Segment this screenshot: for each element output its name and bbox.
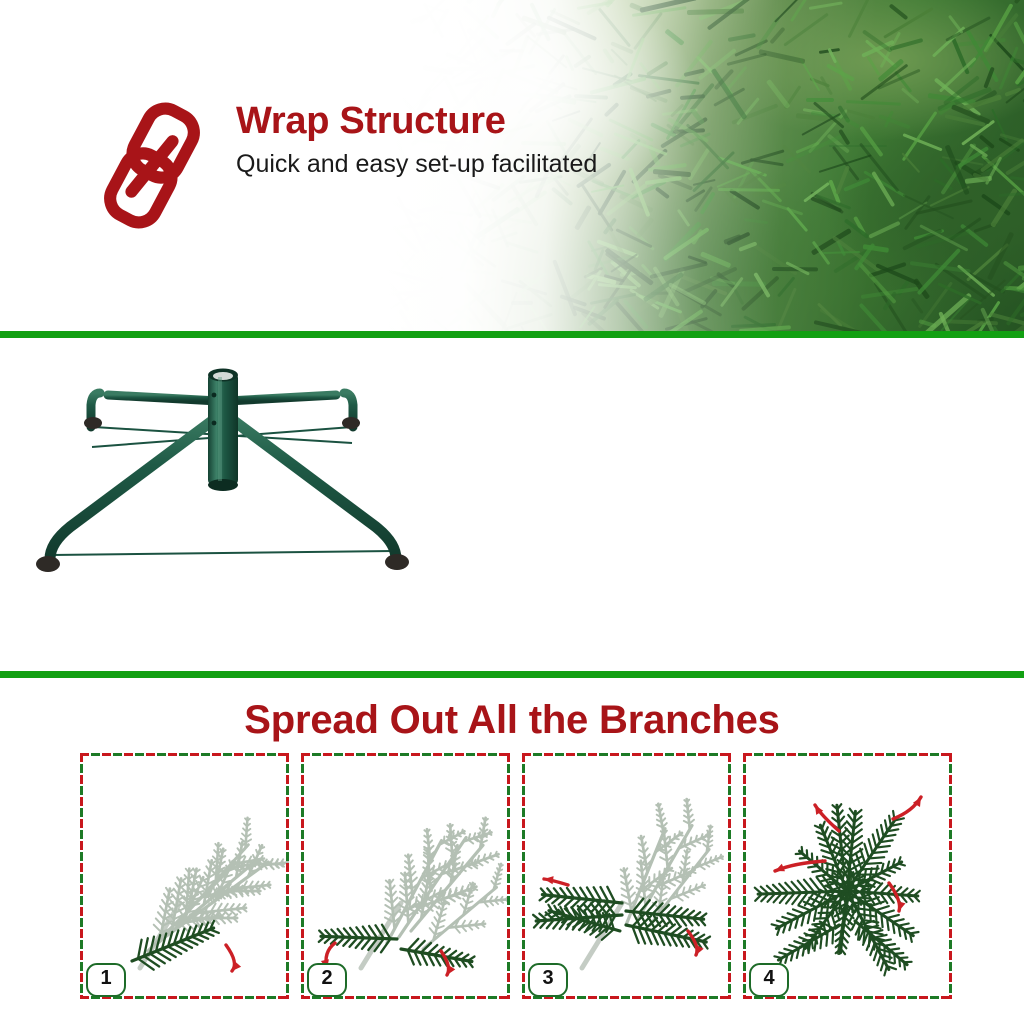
step-1-badge: 1 <box>86 963 126 997</box>
step-panel-1: 1 <box>80 753 289 999</box>
divider-line-1 <box>0 331 1024 338</box>
spread-branches-section: Spread Out All the Branches 1 2 3 <box>0 685 1024 1024</box>
step-panel-4: 4 <box>743 753 952 999</box>
wrap-subtitle: Quick and easy set-up facilitated <box>236 149 597 179</box>
step-3-badge: 3 <box>528 963 568 997</box>
tree-stand-photo <box>22 355 422 605</box>
feature-wrap-structure: Wrap Structure Quick and easy set-up fac… <box>96 96 597 236</box>
sturdy-metal-base-section: Sturdy Metal Base Bolts ensure firm conn… <box>0 345 1024 678</box>
spread-title: Spread Out All the Branches <box>0 698 1024 743</box>
step-panel-3: 3 <box>522 753 731 999</box>
step-2-badge: 2 <box>307 963 347 997</box>
step-panel-2: 2 <box>301 753 510 999</box>
divider-line-2 <box>0 671 1024 678</box>
feature-wrap-text: Wrap Structure Quick and easy set-up fac… <box>236 96 597 179</box>
step-list: 1 2 3 4 <box>80 753 952 999</box>
step-4-badge: 4 <box>749 963 789 997</box>
wrap-structure-section: Wrap Structure Quick and easy set-up fac… <box>0 0 1024 338</box>
chain-link-icon <box>96 100 208 236</box>
wrap-title: Wrap Structure <box>236 102 597 140</box>
